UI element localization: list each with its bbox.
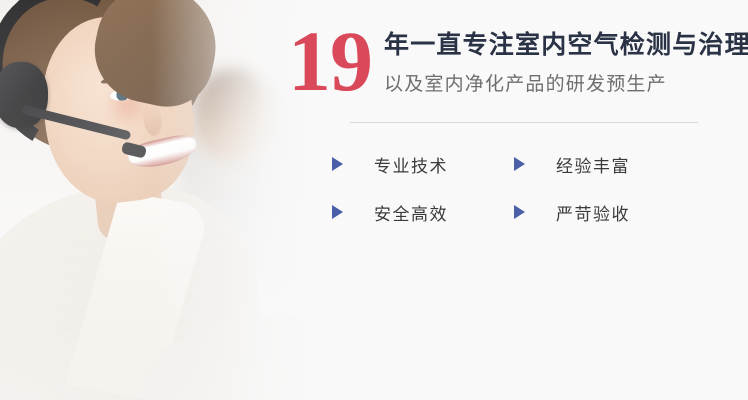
feature-item-safe-efficient: 安全高效	[332, 188, 514, 236]
feature-item-professional-technology: 专业技术	[332, 140, 514, 188]
promo-banner: 19 年一直专注室内空气检测与治理 以及室内净化产品的研发预生产 专业技术 经验…	[0, 0, 748, 400]
headline-primary: 年一直专注室内空气检测与治理	[384, 30, 748, 61]
feature-label: 严苛验收	[556, 200, 630, 225]
feature-item-rich-experience: 经验丰富	[514, 140, 696, 188]
headline-block: 19 年一直专注室内空气检测与治理 以及室内净化产品的研发预生产	[288, 22, 748, 101]
feature-list: 专业技术 经验丰富 安全高效 严苛验收	[332, 140, 696, 236]
content-divider	[350, 122, 698, 123]
feature-label: 安全高效	[374, 200, 448, 225]
triangle-right-icon	[332, 205, 343, 219]
feature-label: 经验丰富	[556, 152, 630, 177]
triangle-right-icon	[514, 205, 525, 219]
feature-label: 专业技术	[374, 152, 448, 177]
banner-content: 19 年一直专注室内空气检测与治理 以及室内净化产品的研发预生产 专业技术 经验…	[288, 0, 748, 400]
headline-secondary: 以及室内净化产品的研发预生产	[384, 73, 748, 98]
years-number: 19	[288, 22, 372, 101]
headline-text-block: 年一直专注室内空气检测与治理 以及室内净化产品的研发预生产	[384, 22, 748, 98]
triangle-right-icon	[514, 157, 525, 171]
agent-nose	[142, 103, 164, 137]
blurred-colleague-head	[196, 70, 272, 162]
feature-item-strict-acceptance: 严苛验收	[514, 188, 696, 236]
triangle-right-icon	[332, 157, 343, 171]
